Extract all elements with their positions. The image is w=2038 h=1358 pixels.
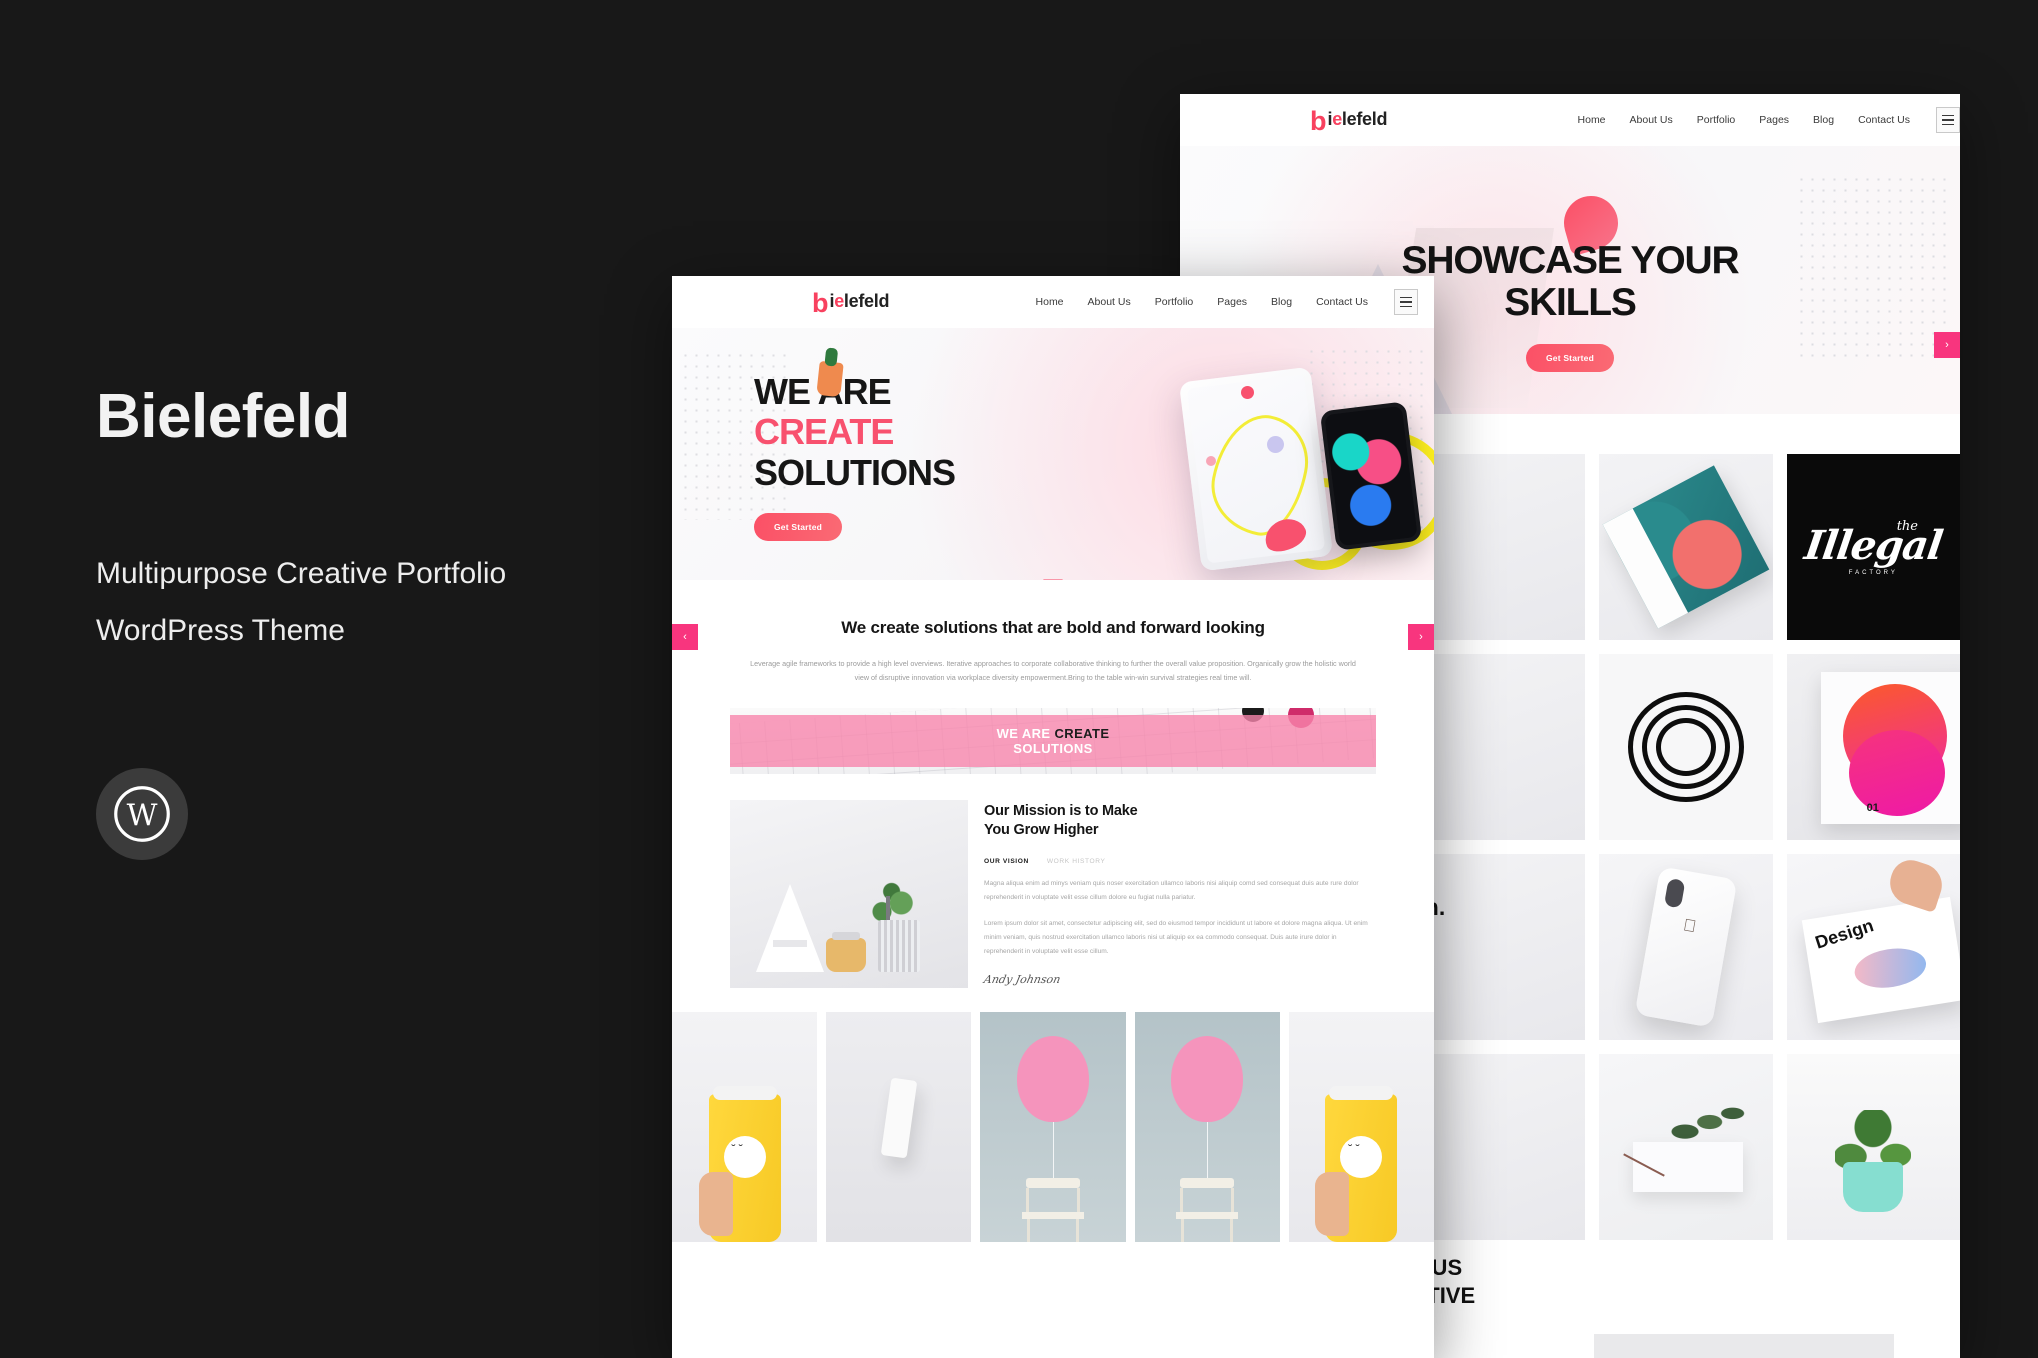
nav-item-home[interactable]: Home (1036, 296, 1064, 308)
front-get-started-button[interactable]: Get Started (754, 513, 842, 541)
triangle-down-icon[interactable] (1043, 579, 1063, 580)
nav-item-contact-us[interactable]: Contact Us (1316, 296, 1368, 308)
back-nav-links[interactable]: Home About Us Portfolio Pages Blog Conta… (1578, 114, 1910, 126)
page-title: Bielefeld (96, 386, 350, 448)
front-hero-copy: WE ARE CREATE SOLUTIONS Get Started (754, 372, 955, 541)
front-site-preview[interactable]: b ielefeld Home About Us Portfolio Pages… (672, 276, 1434, 1358)
mission-heading-line-2: You Grow Higher (984, 822, 1098, 838)
mission-photo (730, 800, 968, 988)
hamburger-menu-icon[interactable] (1936, 107, 1960, 133)
intro-section: We create solutions that are bold and fo… (672, 580, 1434, 686)
dot-decoration-lavender (1267, 436, 1284, 453)
dot-decoration-pink (1241, 386, 1254, 399)
portfolio-item-succulent[interactable] (1787, 1054, 1960, 1240)
promo-panel: Bielefeld Multipurpose Creative Portfoli… (0, 0, 700, 1358)
back-contact-form-field[interactable] (1594, 1334, 1894, 1358)
poster-illegal-text: Illegal (1802, 526, 1944, 566)
mission-tabs[interactable]: OUR VISION WORK HISTORY (984, 858, 1376, 865)
mission-heading-line-1: Our Mission is to Make (984, 803, 1138, 819)
portfolio-item-hidden-2[interactable] (1412, 654, 1585, 840)
portfolio-row:  Design (1412, 854, 1960, 1040)
wordpress-icon: W (96, 768, 188, 860)
slider-prev-button[interactable]: ‹ (672, 624, 698, 650)
tab-our-vision[interactable]: OUR VISION (984, 858, 1029, 865)
mission-paragraph-2: Lorem ipsum dolor sit amet, consectetur … (984, 917, 1376, 959)
mission-text: Our Mission is to Make You Grow Higher O… (984, 800, 1376, 988)
pen-decoration (886, 896, 890, 922)
dot-decoration-light-pink (1206, 456, 1216, 466)
nav-item-pages[interactable]: Pages (1759, 114, 1789, 126)
portfolio-row (1412, 1054, 1960, 1240)
banner-line-1: WE ARE CREATE (997, 726, 1110, 741)
front-hero-line-2: CREATE (754, 411, 893, 452)
back-hero-line-2: SKILLS (1504, 281, 1635, 324)
banner-line-2: SOLUTIONS (1013, 741, 1092, 756)
poster-number: 01 (1867, 802, 1879, 814)
cactus-decoration (816, 361, 843, 397)
nav-item-blog[interactable]: Blog (1271, 296, 1292, 308)
nav-item-blog[interactable]: Blog (1813, 114, 1834, 126)
logo-mark-icon: b (812, 291, 829, 315)
gallery-item-yellow-cup[interactable] (672, 1012, 817, 1242)
pen-holder-decoration (878, 920, 920, 972)
banner-we-are-text: WE ARE (997, 726, 1055, 741)
portfolio-row: the Illegal FACTORY (1412, 454, 1960, 640)
portfolio-item-design-poster[interactable]: Design (1787, 854, 1960, 1040)
back-hero-line-1: SHOWCASE YOUR (1402, 239, 1739, 282)
nav-item-portfolio[interactable]: Portfolio (1697, 114, 1736, 126)
mission-section: Our Mission is to Make You Grow Higher O… (730, 800, 1376, 988)
slider-next-button[interactable]: › (1934, 332, 1960, 358)
portfolio-item-iphone[interactable]:  (1599, 854, 1772, 1040)
front-hero-line-3: SOLUTIONS (754, 452, 955, 493)
portfolio-item-spiral[interactable] (1599, 654, 1772, 840)
front-navbar: b ielefeld Home About Us Portfolio Pages… (672, 276, 1434, 328)
logo-mark-icon: b (1310, 109, 1327, 133)
svg-text:W: W (127, 798, 158, 833)
logo-text: ielefeld (830, 291, 890, 312)
gallery-item-yellow-cup-2[interactable] (1289, 1012, 1434, 1242)
portfolio-item-marble-magazine[interactable] (1599, 454, 1772, 640)
portfolio-row: 01 (1412, 654, 1960, 840)
portfolio-item-hidden-4[interactable] (1412, 1054, 1585, 1240)
portfolio-item-envelope-leaf[interactable] (1599, 1054, 1772, 1240)
portfolio-item-hidden[interactable] (1412, 454, 1585, 640)
intro-paragraph: Leverage agile frameworks to provide a h… (730, 657, 1376, 687)
intro-heading: We create solutions that are bold and fo… (730, 616, 1376, 641)
banner-overlay: WE ARE CREATE SOLUTIONS (730, 715, 1376, 767)
nav-item-contact-us[interactable]: Contact Us (1858, 114, 1910, 126)
banner-create-text: CREATE (1055, 726, 1110, 741)
gallery-item-white-object[interactable] (826, 1012, 971, 1242)
portfolio-item-illegal-factory[interactable]: the Illegal FACTORY (1787, 454, 1960, 640)
signature: Andy Johnson (983, 973, 1378, 986)
jar-decoration (826, 938, 866, 972)
front-hero: WE ARE CREATE SOLUTIONS Get Started (672, 328, 1434, 580)
nav-item-about-us[interactable]: About Us (1630, 114, 1673, 126)
plant-decoration (864, 878, 924, 926)
front-nav-links[interactable]: Home About Us Portfolio Pages Blog Conta… (1036, 296, 1368, 308)
phone-mockup (1320, 401, 1422, 550)
front-logo[interactable]: b ielefeld (812, 290, 889, 314)
gallery-item-balloon-chair[interactable] (980, 1012, 1125, 1242)
portfolio-item-gradient-poster[interactable]: 01 (1787, 654, 1960, 840)
tab-work-history[interactable]: WORK HISTORY (1047, 858, 1106, 865)
gallery-item-balloon-chair-2[interactable] (1135, 1012, 1280, 1242)
keyboard-banner[interactable]: WE ARE CREATE SOLUTIONS (730, 708, 1376, 774)
tablet-mockup (1179, 367, 1333, 572)
nav-item-portfolio[interactable]: Portfolio (1155, 296, 1194, 308)
poster-design-label: Design (1812, 915, 1876, 954)
nav-item-home[interactable]: Home (1578, 114, 1606, 126)
back-get-started-button[interactable]: Get Started (1526, 344, 1614, 372)
mission-paragraph-1: Magna aliqua enim ad minys veniam quis n… (984, 877, 1376, 905)
bottom-gallery (672, 1012, 1434, 1242)
back-navbar: b ielefeld Home About Us Portfolio Pages… (1180, 94, 1960, 146)
nav-item-pages[interactable]: Pages (1217, 296, 1247, 308)
back-logo[interactable]: b ielefeld (1310, 108, 1387, 132)
hamburger-menu-icon[interactable] (1394, 289, 1418, 315)
poster-factory-text: FACTORY (1849, 570, 1898, 576)
portfolio-item-hidden-3[interactable] (1412, 854, 1585, 1040)
slider-next-button[interactable]: › (1408, 624, 1434, 650)
nav-item-about-us[interactable]: About Us (1088, 296, 1131, 308)
logo-text: ielefeld (1328, 109, 1388, 130)
letter-a-decoration (756, 884, 824, 972)
